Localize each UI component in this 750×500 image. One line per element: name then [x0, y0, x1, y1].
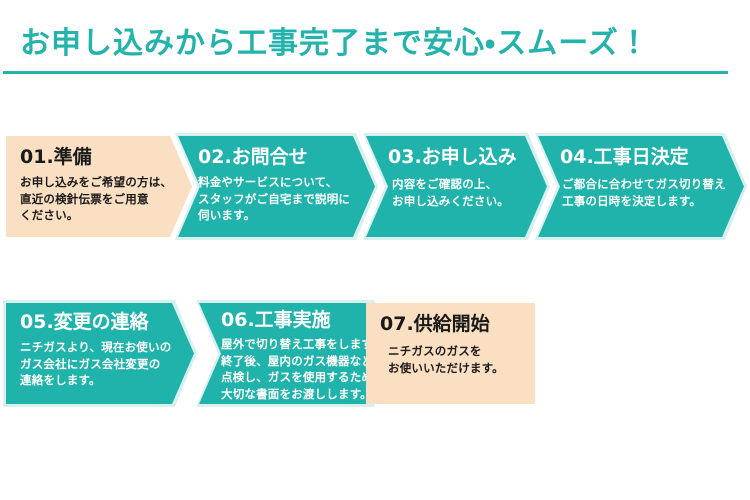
- flow-step-07[interactable]: 07.供給開始 ニチガスのガスを お使いいただけます。: [366, 303, 535, 404]
- flow-step-05[interactable]: 05.変更の連絡 ニチガスより、現在お使いの ガス会社にガス会社変更の 連絡をし…: [6, 303, 194, 404]
- title-underline-rule: [3, 71, 728, 74]
- flow-step-07-body: ニチガスのガスを お使いいただけます。: [388, 343, 504, 376]
- flow-step-03-body: 内容をご確認の上、 お申し込みください。: [392, 176, 509, 209]
- flow-step-02-body: 料金やサービスについて、 スタッフがご自宅まで説明に 伺います。: [198, 174, 350, 224]
- flow-step-04-title: 04.工事日決定: [560, 146, 689, 168]
- flow-step-05-title: 05.変更の連絡: [20, 311, 149, 333]
- flow-step-03[interactable]: 03.お申し込み 内容をご確認の上、 お申し込みください。: [366, 136, 547, 237]
- flow-step-01-title: 01.準備: [20, 146, 92, 168]
- flow-step-06-title: 06.工事実施: [221, 309, 331, 331]
- page-header: お申し込みから工事完了まで安心・スムーズ！: [0, 0, 750, 90]
- flow-step-04[interactable]: 04.工事日決定 ご都合に合わせてガス切り替え 工事の日時を決定します。: [538, 136, 744, 237]
- flow-step-06[interactable]: 06.工事実施 屋外で切り替え工事をします。 終了後、屋内のガス機器などを 点検…: [199, 303, 393, 404]
- flow-step-01-body: お申し込みをご希望の方は、 直近の検針伝票をご用意 ください。: [20, 174, 172, 224]
- flow-step-04-body: ご都合に合わせてガス切り替え 工事の日時を決定します。: [562, 176, 726, 209]
- page-title: お申し込みから工事完了まで安心・スムーズ！: [20, 24, 650, 64]
- flow-step-05-body: ニチガスより、現在お使いの ガス会社にガス会社変更の 連絡をします。: [20, 339, 171, 389]
- flow-step-06-body: 屋外で切り替え工事をします。 終了後、屋内のガス機器などを 点検し、ガスを使用す…: [221, 336, 385, 402]
- flow-step-01[interactable]: 01.準備 お申し込みをご希望の方は、 直近の検針伝票をご用意 ください。: [6, 136, 192, 237]
- flow-step-02-title: 02.お問合せ: [198, 146, 308, 168]
- flow-step-03-title: 03.お申し込み: [388, 146, 517, 168]
- flow-step-07-title: 07.供給開始: [380, 313, 490, 335]
- flow-step-02[interactable]: 02.お問合せ 料金やサービスについて、 スタッフがご自宅まで説明に 伺います。: [178, 136, 375, 237]
